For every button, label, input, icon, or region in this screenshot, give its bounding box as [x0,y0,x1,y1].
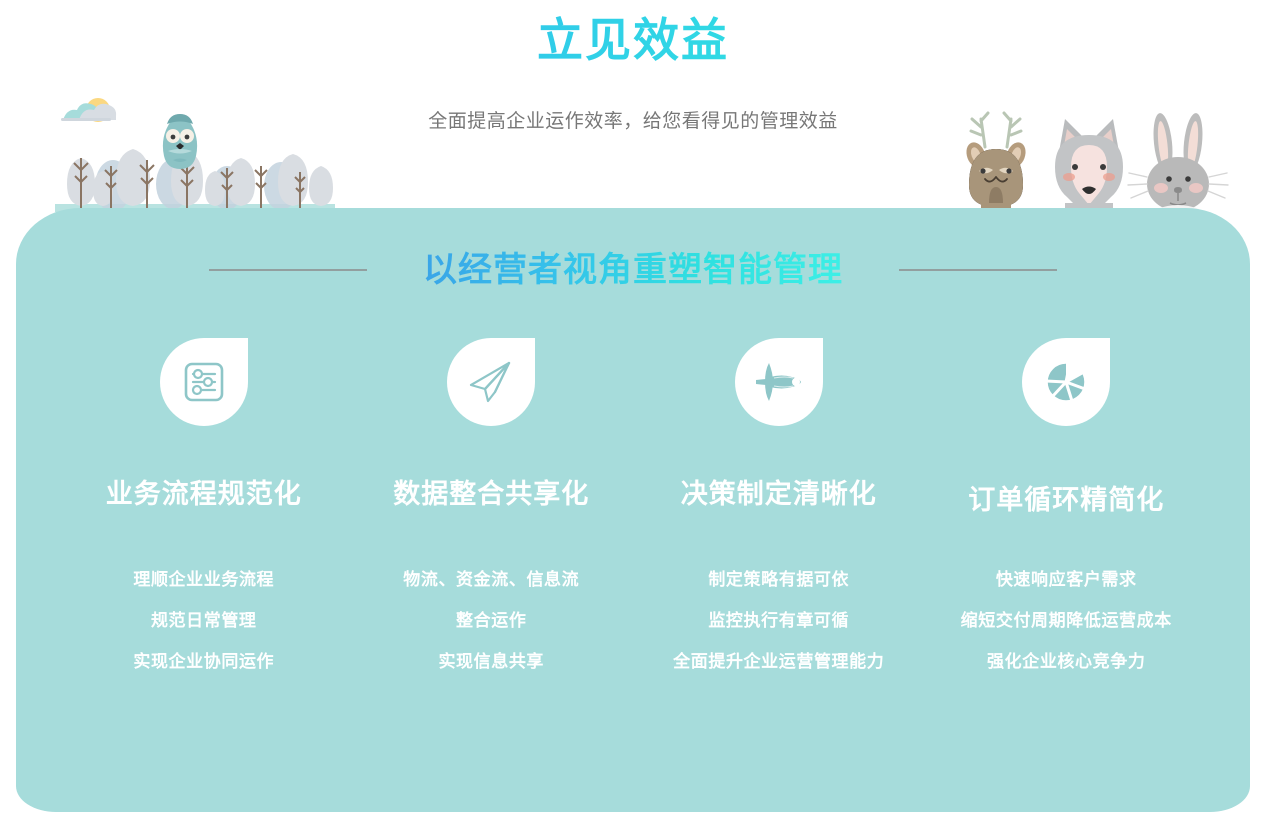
feature-card-decision-making[interactable]: 决策制定清晰化 制定策略有据可依 监控执行有章可循 全面提升企业运营管理能力 [635,338,923,673]
space-shuttle-icon-badge [735,338,823,426]
section-heading: 以经营者视角重塑智能管理 [423,246,843,294]
feature-line: 规范日常管理 [133,610,274,632]
feature-line: 缩短交付周期降低运营成本 [961,610,1172,632]
feature-line: 物流、资金流、信息流 [403,569,579,591]
tree-icon [74,158,305,210]
feature-lines: 物流、资金流、信息流 整合运作 实现信息共享 [403,569,579,673]
feature-card-business-process[interactable]: 业务流程规范化 理顺企业业务流程 规范日常管理 实现企业协同运作 [60,338,348,673]
page-title: 立见效益 [0,10,1266,70]
feature-line: 实现信息共享 [403,651,579,673]
feature-lines: 理顺企业业务流程 规范日常管理 实现企业协同运作 [133,569,274,673]
feature-line: 快速响应客户需求 [961,569,1172,591]
page-subtitle: 全面提高企业运作效率，给您看得见的管理效益 [0,106,1266,133]
section-heading-row: 以经营者视角重塑智能管理 [0,246,1266,294]
aperture-icon-badge [1022,338,1110,426]
feature-line: 全面提升企业运营管理能力 [673,651,884,673]
feature-lines: 快速响应客户需求 缩短交付周期降低运营成本 强化企业核心竞争力 [961,569,1172,673]
feature-line: 制定策略有据可依 [673,569,884,591]
divider-left [209,269,367,271]
paper-plane-icon [465,356,517,408]
divider-right [899,269,1057,271]
feature-title: 业务流程规范化 [106,472,302,511]
tree-icon [67,149,333,206]
tree-icon [95,159,298,212]
feature-line: 整合运作 [403,610,579,632]
feature-line: 理顺企业业务流程 [133,569,274,591]
aperture-icon [1040,356,1092,408]
space-shuttle-icon [752,355,806,409]
feature-title: 决策制定清晰化 [681,472,877,511]
paper-plane-icon-badge [447,338,535,426]
feature-title: 数据整合共享化 [393,472,589,511]
feature-title: 订单循环精简化 [968,478,1164,517]
feature-list: 业务流程规范化 理顺企业业务流程 规范日常管理 实现企业协同运作 数据整合共享化… [60,338,1210,673]
feature-line: 监控执行有章可循 [673,610,884,632]
feature-lines: 制定策略有据可依 监控执行有章可循 全面提升企业运营管理能力 [673,569,884,673]
sliders-icon [179,357,229,407]
sliders-icon-badge [160,338,248,426]
feature-line: 强化企业核心竞争力 [961,651,1172,673]
feature-card-order-cycle[interactable]: 订单循环精简化 快速响应客户需求 缩短交付周期降低运营成本 强化企业核心竞争力 [923,338,1211,673]
feature-line: 实现企业协同运作 [133,651,274,673]
feature-card-data-integration[interactable]: 数据整合共享化 物流、资金流、信息流 整合运作 实现信息共享 [348,338,636,673]
